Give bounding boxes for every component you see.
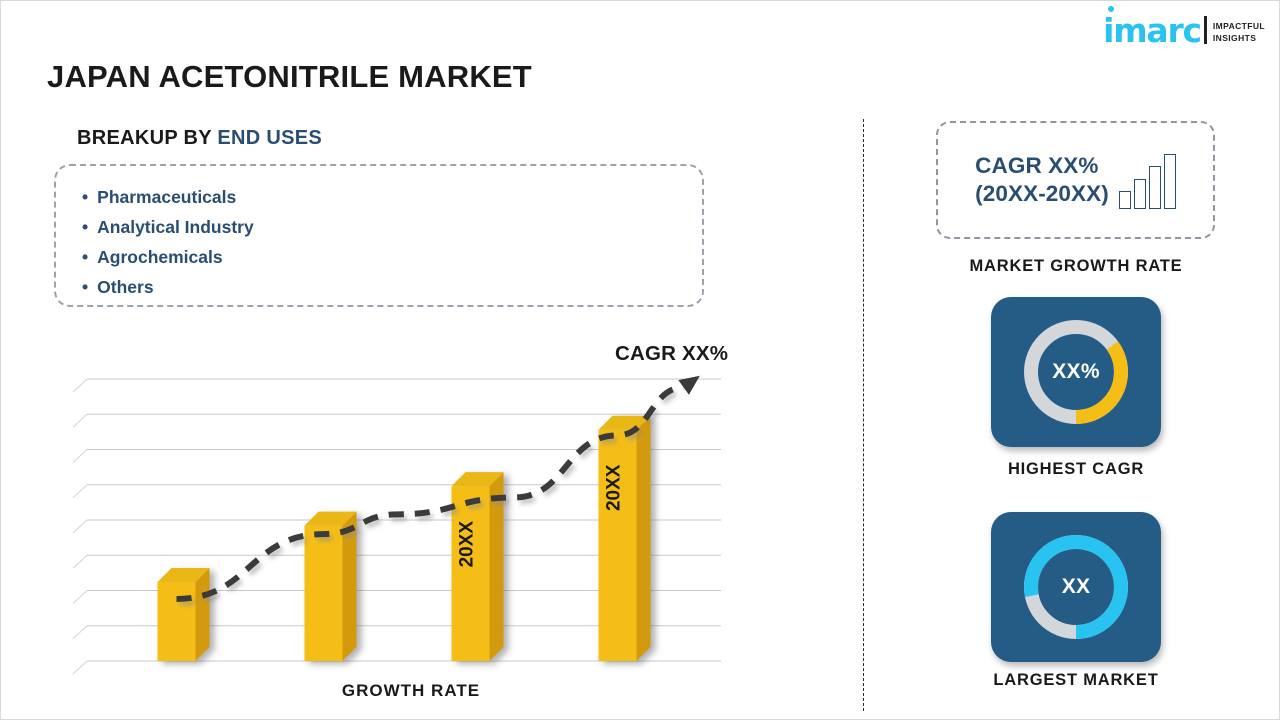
bar-front (305, 526, 343, 661)
list-item: Others (82, 272, 702, 302)
highest-cagr-card: XX% (991, 297, 1161, 447)
gridline-depth-edge (73, 591, 87, 604)
donut-center-label-market: XX (1016, 527, 1136, 647)
imarc-logo: imarc IMPACTFUL INSIGHTS (1103, 15, 1265, 46)
bar-value-label: 20XX (604, 464, 625, 511)
bar-front (599, 430, 637, 661)
bar (599, 416, 651, 661)
market-growth-rate-caption: MARKET GROWTH RATE (926, 257, 1226, 276)
gridline-depth-edge (73, 520, 87, 533)
cagr-line1: CAGR XX% (975, 152, 1109, 180)
logo-wordmark: imarc (1103, 15, 1201, 46)
bar-value-label: 20XX (457, 521, 478, 568)
bar-icon-segment (1149, 166, 1161, 209)
gridline-depth-edge (73, 450, 87, 463)
bar-front (158, 582, 196, 661)
donut-center-label-cagr: XX% (1016, 312, 1136, 432)
bar-icon-segment (1134, 179, 1146, 209)
bar-side (196, 568, 210, 661)
infographic-page: imarc IMPACTFUL INSIGHTS JAPAN ACETONITR… (0, 0, 1280, 720)
section-title-accent: END USES (217, 127, 322, 149)
section-title-plain: BREAKUP BY (77, 127, 217, 149)
chart-x-axis-label: GROWTH RATE (61, 681, 761, 701)
ascending-bars-icon (1119, 151, 1176, 209)
breakup-list-box: Pharmaceuticals Analytical Industry Agro… (54, 164, 704, 307)
trendline-label: CAGR XX% (615, 342, 728, 366)
donut-chart-market: XX (1016, 527, 1136, 647)
gridline-depth-edge (73, 379, 87, 392)
section-title: BREAKUP BY END USES (77, 127, 322, 150)
cagr-line2: (20XX-20XX) (975, 180, 1109, 208)
chart-bars: 20XX20XX (158, 416, 651, 661)
donut-chart-cagr: XX% (1016, 312, 1136, 432)
bar-icon-segment (1164, 154, 1176, 209)
vertical-divider (863, 119, 864, 711)
gridline-depth-edge (73, 485, 87, 498)
list-item: Agrochemicals (82, 242, 702, 272)
bar (158, 568, 210, 661)
gridline-depth-edge (73, 626, 87, 639)
bar-icon-segment (1119, 191, 1131, 209)
largest-market-caption: LARGEST MARKET (926, 671, 1226, 690)
page-title: JAPAN ACETONITRILE MARKET (47, 59, 532, 95)
chart-canvas: 20XX20XX (61, 331, 761, 676)
logo-tagline-line2: INSIGHTS (1213, 33, 1265, 44)
gridline-depth-edge (73, 414, 87, 427)
cagr-text: CAGR XX% (20XX-20XX) (975, 152, 1109, 208)
cagr-summary-box: CAGR XX% (20XX-20XX) (936, 121, 1215, 239)
logo-tagline-line1: IMPACTFUL (1213, 21, 1265, 32)
bar-side (637, 416, 651, 661)
growth-rate-bar-chart: 20XX20XX (61, 331, 761, 676)
largest-market-card: XX (991, 512, 1161, 662)
breakup-list: Pharmaceuticals Analytical Industry Agro… (82, 182, 702, 302)
list-item: Pharmaceuticals (82, 182, 702, 212)
logo-tagline: IMPACTFUL INSIGHTS (1213, 21, 1265, 46)
bar (305, 512, 357, 661)
bar-front (452, 486, 490, 661)
logo-divider (1204, 16, 1207, 44)
gridline-depth-edge (73, 661, 87, 674)
trendline-arrowhead (678, 368, 705, 394)
gridline-depth-edge (73, 555, 87, 568)
highest-cagr-caption: HIGHEST CAGR (926, 460, 1226, 479)
list-item: Analytical Industry (82, 212, 702, 242)
logo-wordmark-text: imarc (1103, 11, 1201, 50)
